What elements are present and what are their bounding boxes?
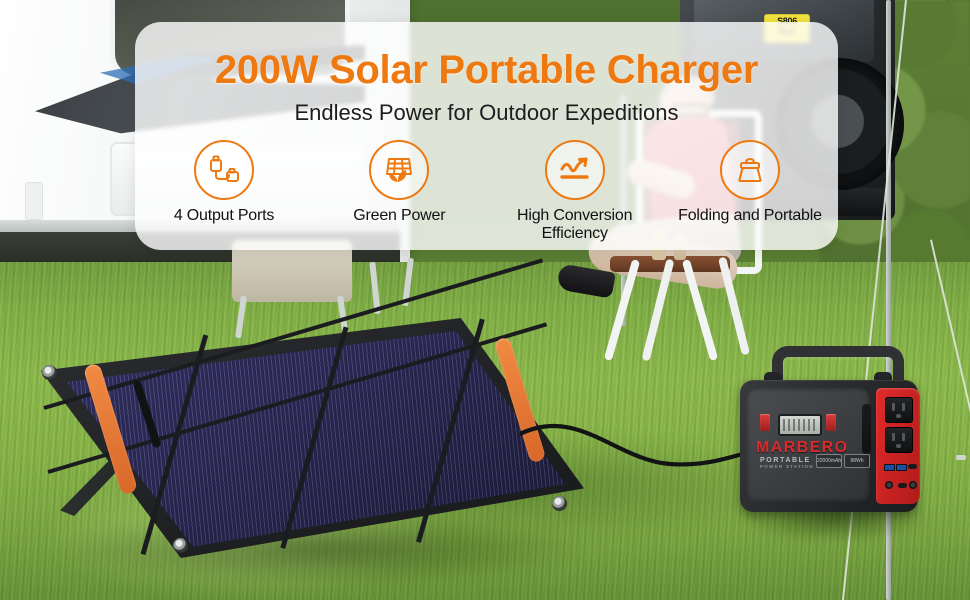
power-button-right[interactable] <box>826 414 836 431</box>
folding-bag-icon <box>720 140 780 200</box>
page-title: 200W Solar Portable Charger <box>135 48 838 92</box>
ac-blade-4 <box>902 433 905 441</box>
folding-solar-panel <box>24 318 604 588</box>
ac-blade-3 <box>892 433 895 441</box>
spec-badge-watthours: 88Wh <box>844 454 870 468</box>
ac-ground-pin-2 <box>896 444 901 448</box>
power-button-left[interactable] <box>760 414 770 431</box>
ac-outlet-top[interactable] <box>885 397 913 423</box>
feature-item-green-power: Green Power <box>324 140 474 225</box>
station-line-2: POWER STATION <box>760 464 814 469</box>
subtitle: Endless Power for Outdoor Expeditions <box>135 100 838 126</box>
lcd-display <box>778 414 822 436</box>
led-light-port[interactable] <box>909 481 917 489</box>
spec-badge-capacity: 22000mAh <box>816 454 842 468</box>
feature-label: 4 Output Ports <box>174 207 274 225</box>
feature-label: Green Power <box>353 207 445 225</box>
feature-label: Folding and Portable <box>678 207 822 225</box>
rising-arrow-chart-icon <box>545 140 605 200</box>
usb-c-port[interactable] <box>908 464 917 469</box>
ac-blade-2 <box>902 403 905 411</box>
tent-peg-2 <box>956 455 966 460</box>
panel-eyelet-bottom <box>173 538 188 553</box>
usb-port-1[interactable] <box>884 464 895 471</box>
solar-panel-leaf-icon <box>369 140 429 200</box>
product-info-card: 200W Solar Portable Charger Endless Powe… <box>135 22 838 250</box>
feature-item-output-ports: 4 Output Ports <box>149 140 299 225</box>
ac-ground-pin <box>896 414 901 418</box>
caravan-latch <box>25 182 43 220</box>
dc-input-port[interactable] <box>885 481 893 489</box>
usb-port-2[interactable] <box>896 464 907 471</box>
feature-item-efficiency: High Conversion Efficiency <box>500 140 650 243</box>
ac-blade-1 <box>892 403 895 411</box>
station-port-panel <box>876 388 920 504</box>
dc-output-port[interactable] <box>898 483 907 488</box>
plug-connectors-icon <box>194 140 254 200</box>
station-side-vent <box>862 404 871 454</box>
station-line-1: PORTABLE <box>760 457 811 464</box>
portable-power-station: MARBERO PORTABLE POWER STATION 22000mAh … <box>734 346 930 536</box>
product-hero-image: S806 FLY <box>0 0 970 600</box>
panel-eyelet-top-left <box>42 365 57 380</box>
feature-list: 4 Output Ports Green Power <box>149 140 825 244</box>
feature-label: High Conversion Efficiency <box>500 207 650 243</box>
feature-item-folding: Folding and Portable <box>675 140 825 225</box>
ac-outlet-bottom[interactable] <box>885 427 913 453</box>
